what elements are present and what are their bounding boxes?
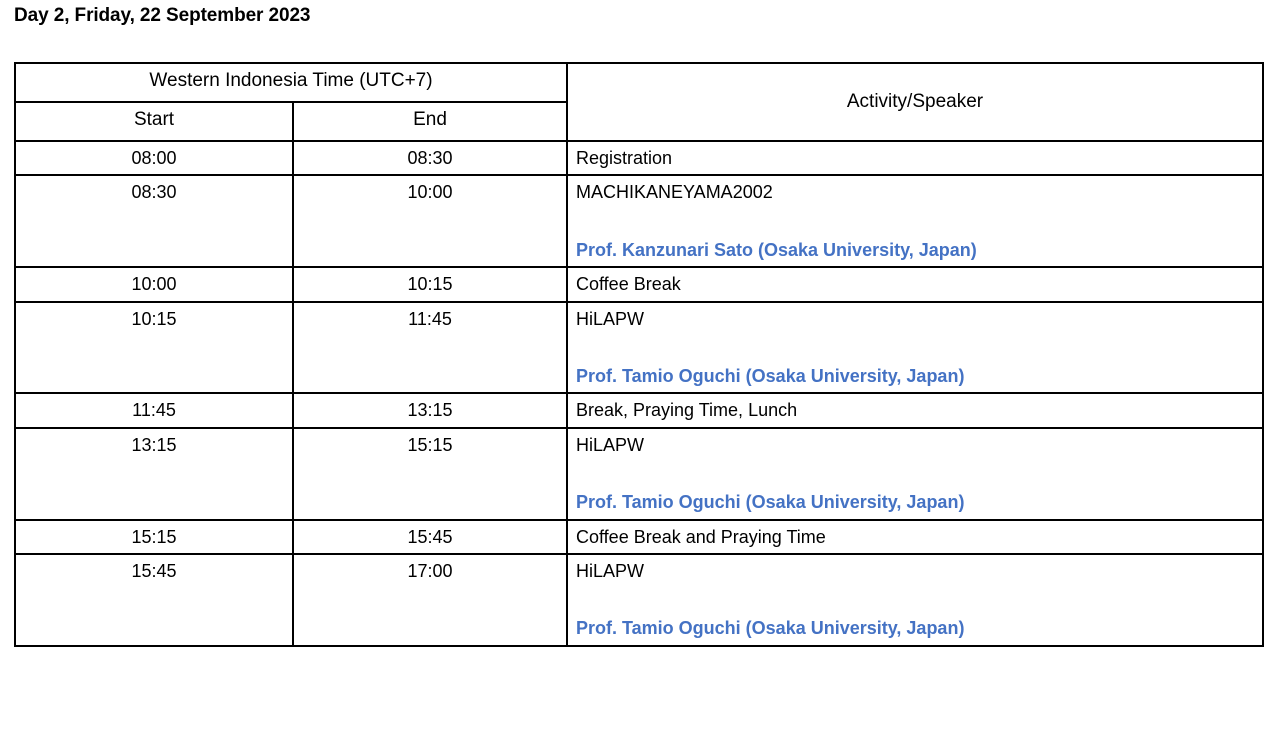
end-time-value: 10:15 bbox=[294, 268, 566, 300]
start-time-value: 08:30 bbox=[16, 176, 292, 208]
speaker-name: Prof. Kanzunari Sato (Osaka University, … bbox=[576, 239, 1256, 262]
end-time-value: 17:00 bbox=[294, 555, 566, 587]
cell-end-time: 13:15 bbox=[293, 393, 567, 427]
activity-content: MACHIKANEYAMA2002Prof. Kanzunari Sato (O… bbox=[568, 176, 1262, 266]
table-row: 10:1511:45HiLAPWProf. Tamio Oguchi (Osak… bbox=[15, 302, 1263, 394]
cell-end-time: 10:15 bbox=[293, 267, 567, 301]
cell-end-time: 17:00 bbox=[293, 554, 567, 646]
header-start: Start bbox=[15, 102, 293, 141]
cell-start-time: 08:00 bbox=[15, 141, 293, 175]
activity-spacer bbox=[576, 457, 1256, 491]
start-time-value: 15:45 bbox=[16, 555, 292, 587]
schedule-table: Western Indonesia Time (UTC+7) Activity/… bbox=[14, 62, 1264, 647]
end-time-value: 10:00 bbox=[294, 176, 566, 208]
header-activity: Activity/Speaker bbox=[567, 63, 1263, 141]
document-page: Day 2, Friday, 22 September 2023 Western… bbox=[0, 0, 1276, 736]
end-time-value: 15:45 bbox=[294, 521, 566, 553]
start-time-value: 10:15 bbox=[16, 303, 292, 335]
activity-title: Break, Praying Time, Lunch bbox=[576, 399, 1256, 422]
table-row: 08:3010:00MACHIKANEYAMA2002Prof. Kanzuna… bbox=[15, 175, 1263, 267]
activity-spacer bbox=[576, 331, 1256, 365]
cell-end-time: 11:45 bbox=[293, 302, 567, 394]
start-time-value: 08:00 bbox=[16, 142, 292, 174]
cell-start-time: 10:00 bbox=[15, 267, 293, 301]
end-time-value: 11:45 bbox=[294, 303, 566, 335]
table-row: 15:4517:00HiLAPWProf. Tamio Oguchi (Osak… bbox=[15, 554, 1263, 646]
start-time-value: 13:15 bbox=[16, 429, 292, 461]
table-row: 08:0008:30Registration bbox=[15, 141, 1263, 175]
cell-activity: Coffee Break bbox=[567, 267, 1263, 301]
activity-title: HiLAPW bbox=[576, 308, 1256, 331]
header-start-label: Start bbox=[16, 103, 292, 138]
activity-content: HiLAPWProf. Tamio Oguchi (Osaka Universi… bbox=[568, 555, 1262, 645]
end-time-value: 15:15 bbox=[294, 429, 566, 461]
activity-content: HiLAPWProf. Tamio Oguchi (Osaka Universi… bbox=[568, 429, 1262, 519]
schedule-rows: 08:0008:30Registration08:3010:00MACHIKAN… bbox=[15, 141, 1263, 646]
start-time-value: 15:15 bbox=[16, 521, 292, 553]
table-row: 11:4513:15Break, Praying Time, Lunch bbox=[15, 393, 1263, 427]
table-row: 13:1515:15HiLAPWProf. Tamio Oguchi (Osak… bbox=[15, 428, 1263, 520]
speaker-name: Prof. Tamio Oguchi (Osaka University, Ja… bbox=[576, 617, 1256, 640]
activity-spacer bbox=[576, 583, 1256, 617]
cell-start-time: 15:15 bbox=[15, 520, 293, 554]
cell-end-time: 10:00 bbox=[293, 175, 567, 267]
start-time-value: 11:45 bbox=[16, 394, 292, 426]
activity-content: Registration bbox=[568, 142, 1262, 174]
header-end-label: End bbox=[294, 103, 566, 138]
activity-content: Coffee Break and Praying Time bbox=[568, 521, 1262, 553]
end-time-value: 13:15 bbox=[294, 394, 566, 426]
activity-title: HiLAPW bbox=[576, 434, 1256, 457]
start-time-value: 10:00 bbox=[16, 268, 292, 300]
header-time-group-label: Western Indonesia Time (UTC+7) bbox=[16, 64, 566, 99]
speaker-name: Prof. Tamio Oguchi (Osaka University, Ja… bbox=[576, 491, 1256, 514]
activity-spacer bbox=[576, 205, 1256, 239]
cell-end-time: 08:30 bbox=[293, 141, 567, 175]
cell-activity: HiLAPWProf. Tamio Oguchi (Osaka Universi… bbox=[567, 302, 1263, 394]
header-end: End bbox=[293, 102, 567, 141]
activity-content: Coffee Break bbox=[568, 268, 1262, 300]
activity-title: Registration bbox=[576, 147, 1256, 170]
table-row: 15:1515:45Coffee Break and Praying Time bbox=[15, 520, 1263, 554]
cell-end-time: 15:15 bbox=[293, 428, 567, 520]
cell-end-time: 15:45 bbox=[293, 520, 567, 554]
cell-start-time: 10:15 bbox=[15, 302, 293, 394]
header-time-group: Western Indonesia Time (UTC+7) bbox=[15, 63, 567, 102]
activity-title: HiLAPW bbox=[576, 560, 1256, 583]
activity-title: MACHIKANEYAMA2002 bbox=[576, 181, 1256, 204]
cell-activity: Registration bbox=[567, 141, 1263, 175]
cell-activity: MACHIKANEYAMA2002Prof. Kanzunari Sato (O… bbox=[567, 175, 1263, 267]
cell-activity: HiLAPWProf. Tamio Oguchi (Osaka Universi… bbox=[567, 428, 1263, 520]
activity-title: Coffee Break and Praying Time bbox=[576, 526, 1256, 549]
schedule-table-body: Western Indonesia Time (UTC+7) Activity/… bbox=[15, 63, 1263, 141]
end-time-value: 08:30 bbox=[294, 142, 566, 174]
cell-start-time: 15:45 bbox=[15, 554, 293, 646]
activity-title: Coffee Break bbox=[576, 273, 1256, 296]
cell-start-time: 11:45 bbox=[15, 393, 293, 427]
activity-content: HiLAPWProf. Tamio Oguchi (Osaka Universi… bbox=[568, 303, 1262, 393]
cell-activity: Coffee Break and Praying Time bbox=[567, 520, 1263, 554]
table-row: 10:0010:15Coffee Break bbox=[15, 267, 1263, 301]
cell-start-time: 08:30 bbox=[15, 175, 293, 267]
page-title: Day 2, Friday, 22 September 2023 bbox=[14, 5, 310, 27]
cell-start-time: 13:15 bbox=[15, 428, 293, 520]
cell-activity: HiLAPWProf. Tamio Oguchi (Osaka Universi… bbox=[567, 554, 1263, 646]
cell-activity: Break, Praying Time, Lunch bbox=[567, 393, 1263, 427]
table-header-row-group: Western Indonesia Time (UTC+7) Activity/… bbox=[15, 63, 1263, 102]
activity-content: Break, Praying Time, Lunch bbox=[568, 394, 1262, 426]
speaker-name: Prof. Tamio Oguchi (Osaka University, Ja… bbox=[576, 365, 1256, 388]
header-activity-label: Activity/Speaker bbox=[568, 64, 1262, 140]
